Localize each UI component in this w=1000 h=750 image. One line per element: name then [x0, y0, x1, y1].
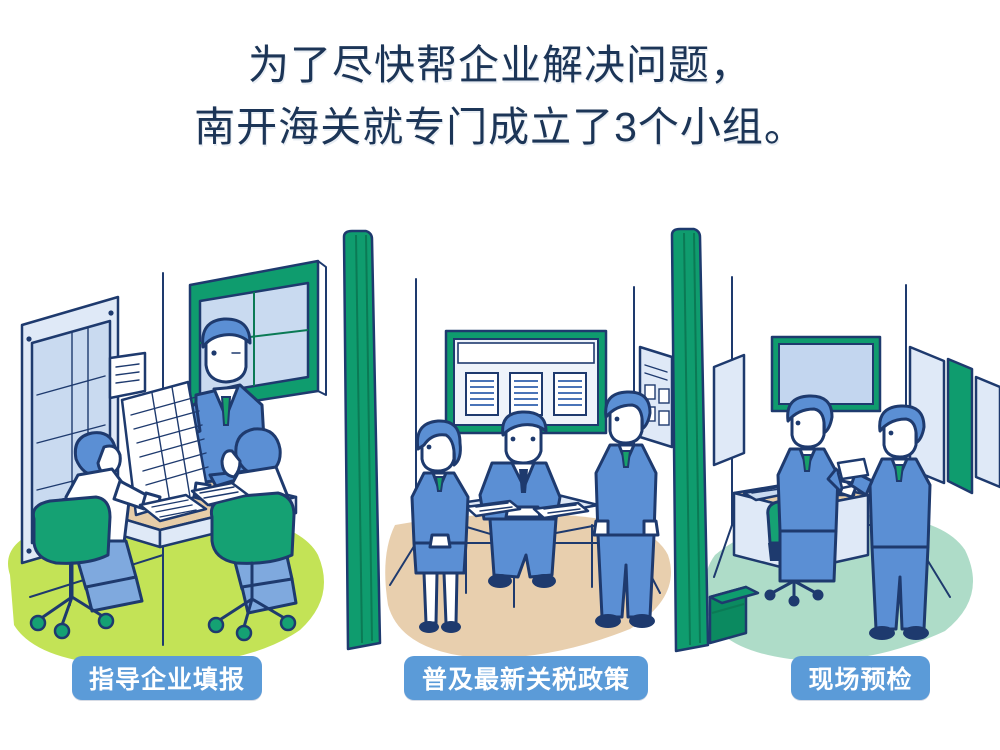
badge-policy[interactable]: 普及最新关税政策 — [404, 656, 648, 700]
page-title: 为了尽快帮企业解决问题， 南开海关就专门成立了3个小组。 — [0, 34, 1000, 159]
wall-panel-left — [714, 355, 744, 465]
posted-document-3 — [554, 373, 586, 415]
badge-guidance[interactable]: 指导企业填报 — [72, 656, 262, 700]
poster-canvas: 为了尽快帮企业解决问题， 南开海关就专门成立了3个小组。 .ol{fill:no… — [0, 0, 1000, 750]
customs-service-teams-illustration: .ol{fill:none;stroke:#1e3a6e;stroke-widt… — [0, 225, 1000, 695]
pillar-left — [344, 231, 380, 649]
person-seated-middle — [480, 412, 560, 588]
badge-inspection[interactable]: 现场预检 — [791, 656, 930, 700]
pillar-right — [672, 229, 708, 651]
posted-document-2 — [510, 373, 542, 415]
posted-document-1 — [466, 373, 498, 415]
